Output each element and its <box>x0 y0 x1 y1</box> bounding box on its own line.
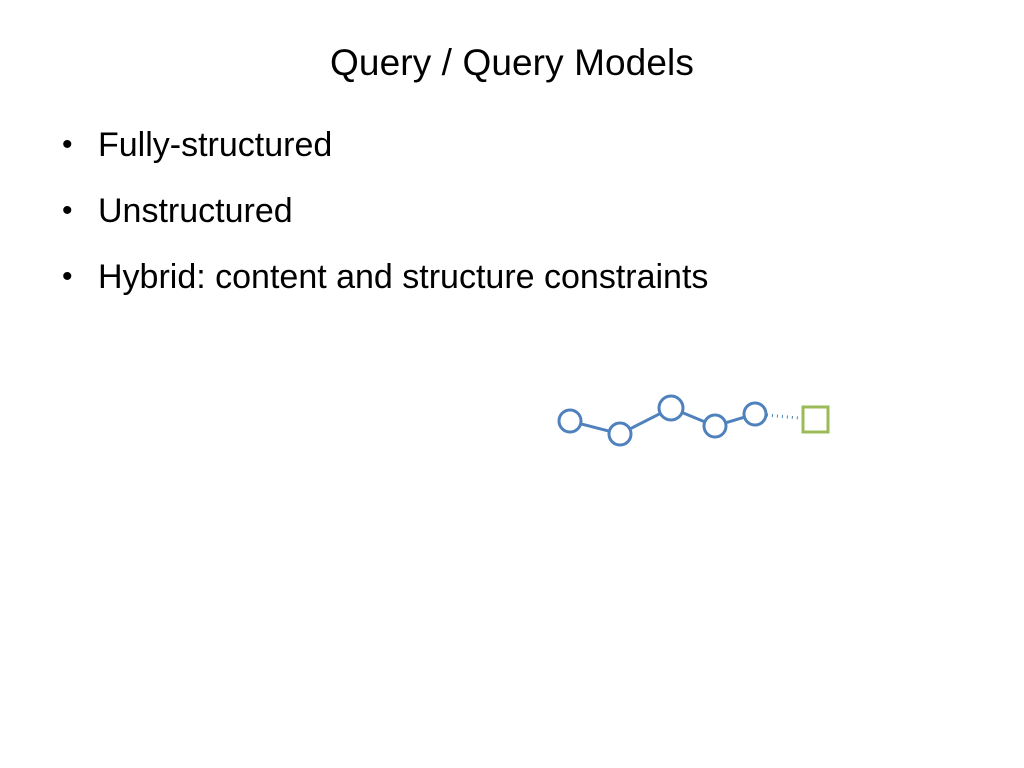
bullet-marker-icon: • <box>56 184 98 238</box>
bullet-item-label: Fully-structured <box>98 118 332 172</box>
node-square-6 <box>803 407 828 432</box>
link-node4-node5 <box>726 417 743 422</box>
node-circle-2 <box>609 423 631 445</box>
link-node2-node3 <box>631 414 660 429</box>
list-item: • Hybrid: content and structure constrai… <box>56 250 956 316</box>
bullet-item-label: Unstructured <box>98 184 293 238</box>
slide-canvas: Query / Query Models • Fully-structured … <box>0 0 1024 768</box>
diagram-nodes <box>559 396 828 445</box>
page-title: Query / Query Models <box>0 40 1024 86</box>
node-chain-diagram <box>540 380 850 460</box>
list-item: • Fully-structured <box>56 118 956 184</box>
bullet-marker-icon: • <box>56 118 98 172</box>
list-item: • Unstructured <box>56 184 956 250</box>
node-circle-5 <box>744 403 766 425</box>
node-circle-3 <box>659 396 683 420</box>
node-circle-4 <box>704 415 726 437</box>
bullet-marker-icon: • <box>56 250 98 304</box>
bullet-item-label: Hybrid: content and structure constraint… <box>98 250 708 304</box>
node-circle-1 <box>559 410 581 432</box>
link-node5-node6-dotted <box>767 415 802 418</box>
link-node1-node2 <box>582 424 609 431</box>
bullet-list: • Fully-structured • Unstructured • Hybr… <box>56 118 956 316</box>
link-node3-node4 <box>683 413 704 422</box>
